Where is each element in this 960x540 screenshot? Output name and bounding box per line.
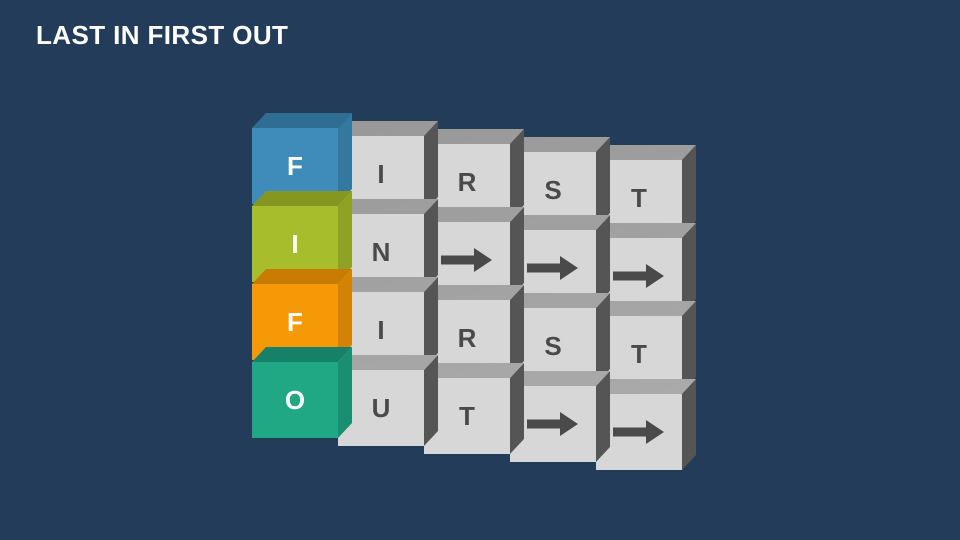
block-cube[interactable]: O xyxy=(0,0,960,540)
block-front-face[interactable]: O xyxy=(252,362,338,438)
slide-canvas: LAST IN FIRST OUT TTSSRRTINIUFIFO xyxy=(0,0,960,540)
block-letter: O xyxy=(285,387,305,413)
block-grid: TTSSRRTINIUFIFO xyxy=(0,0,960,540)
block-side-face xyxy=(0,0,960,540)
block-top-face xyxy=(0,0,960,540)
